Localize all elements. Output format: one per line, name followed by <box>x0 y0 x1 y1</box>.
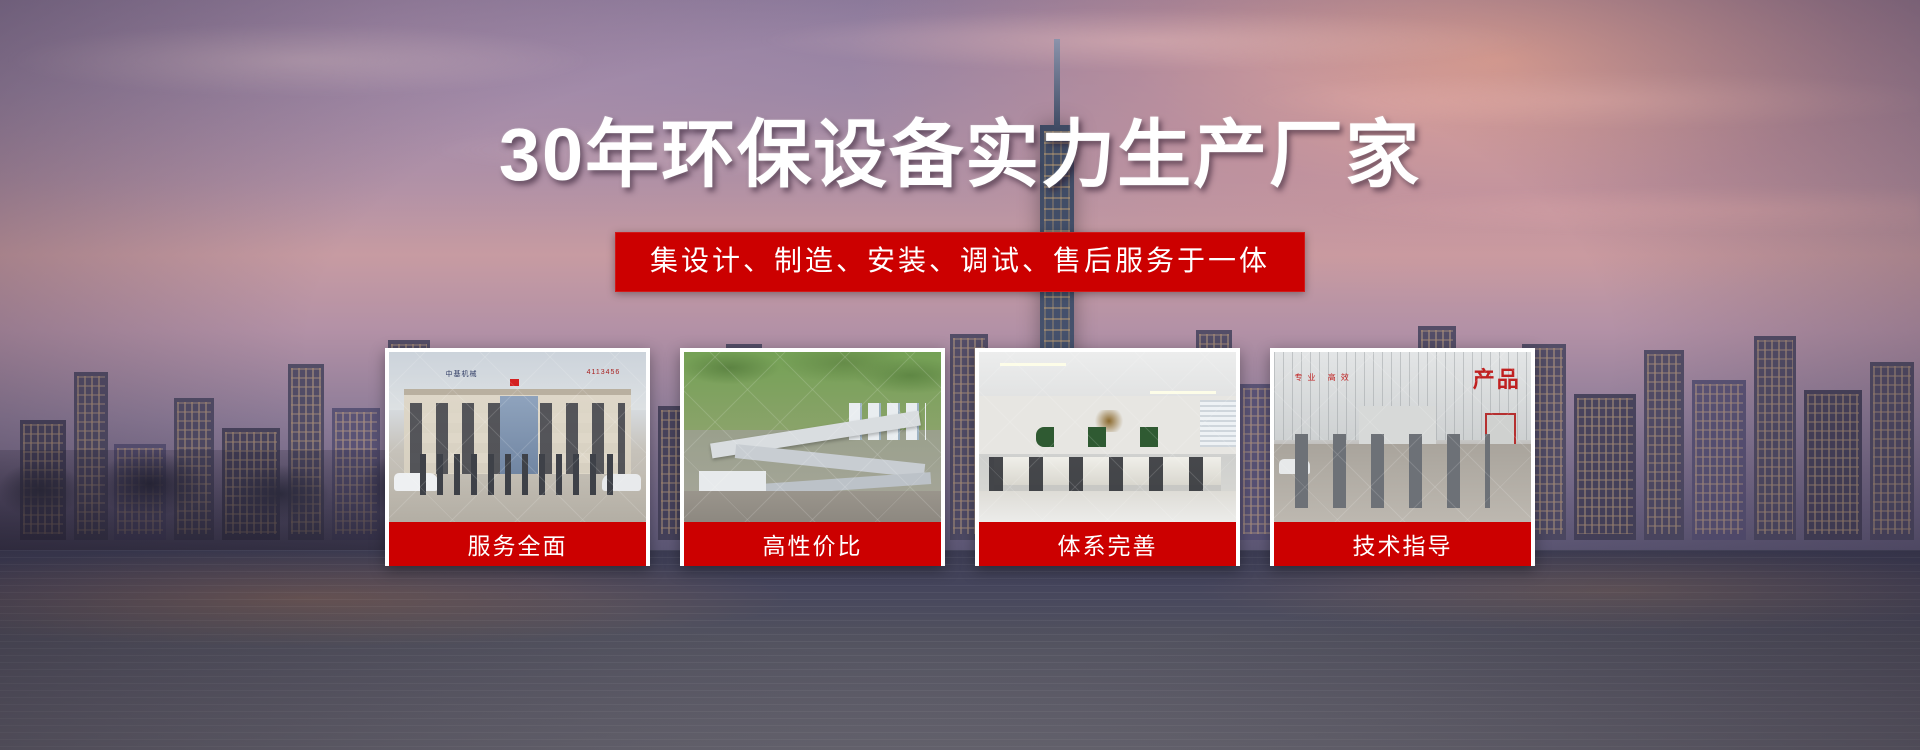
photo-logo-text: 产品 <box>1473 362 1521 394</box>
feature-card-label: 服务全面 <box>389 522 646 566</box>
hero-banner: 30年环保设备实力生产厂家 集设计、制造、安装、调试、售后服务于一体 中基机械 … <box>0 0 1920 750</box>
subtitle-ribbon-wrap: 集设计、制造、安装、调试、售后服务于一体 <box>0 232 1920 292</box>
banner-subtitle: 集设计、制造、安装、调试、售后服务于一体 <box>615 232 1305 292</box>
river-foreground <box>0 550 1920 750</box>
feature-card[interactable]: 中基机械 4113456 服务全面 <box>385 348 650 566</box>
feature-card-list: 中基机械 4113456 服务全面 高性价比 <box>0 348 1920 566</box>
aerial-industrial-plant-photo <box>684 352 941 522</box>
photo-logo-text: 中基机械 <box>446 369 478 379</box>
feature-card-label: 体系完善 <box>979 522 1236 566</box>
feature-card[interactable]: 体系完善 <box>975 348 1240 566</box>
photo-phone-text: 4113456 <box>587 369 621 376</box>
office-building-with-staff-photo: 中基机械 4113456 <box>389 352 646 522</box>
open-plan-office-photo <box>979 352 1236 522</box>
feature-card-label: 高性价比 <box>684 522 941 566</box>
feature-card[interactable]: 专业 高效 产品 技术指导 <box>1270 348 1535 566</box>
feature-card-label: 技术指导 <box>1274 522 1531 566</box>
workshop-workers-photo: 专业 高效 产品 <box>1274 352 1531 522</box>
photo-slogan-text: 专业 高效 <box>1295 372 1354 383</box>
feature-card[interactable]: 高性价比 <box>680 348 945 566</box>
banner-headline: 30年环保设备实力生产厂家 <box>0 118 1920 192</box>
